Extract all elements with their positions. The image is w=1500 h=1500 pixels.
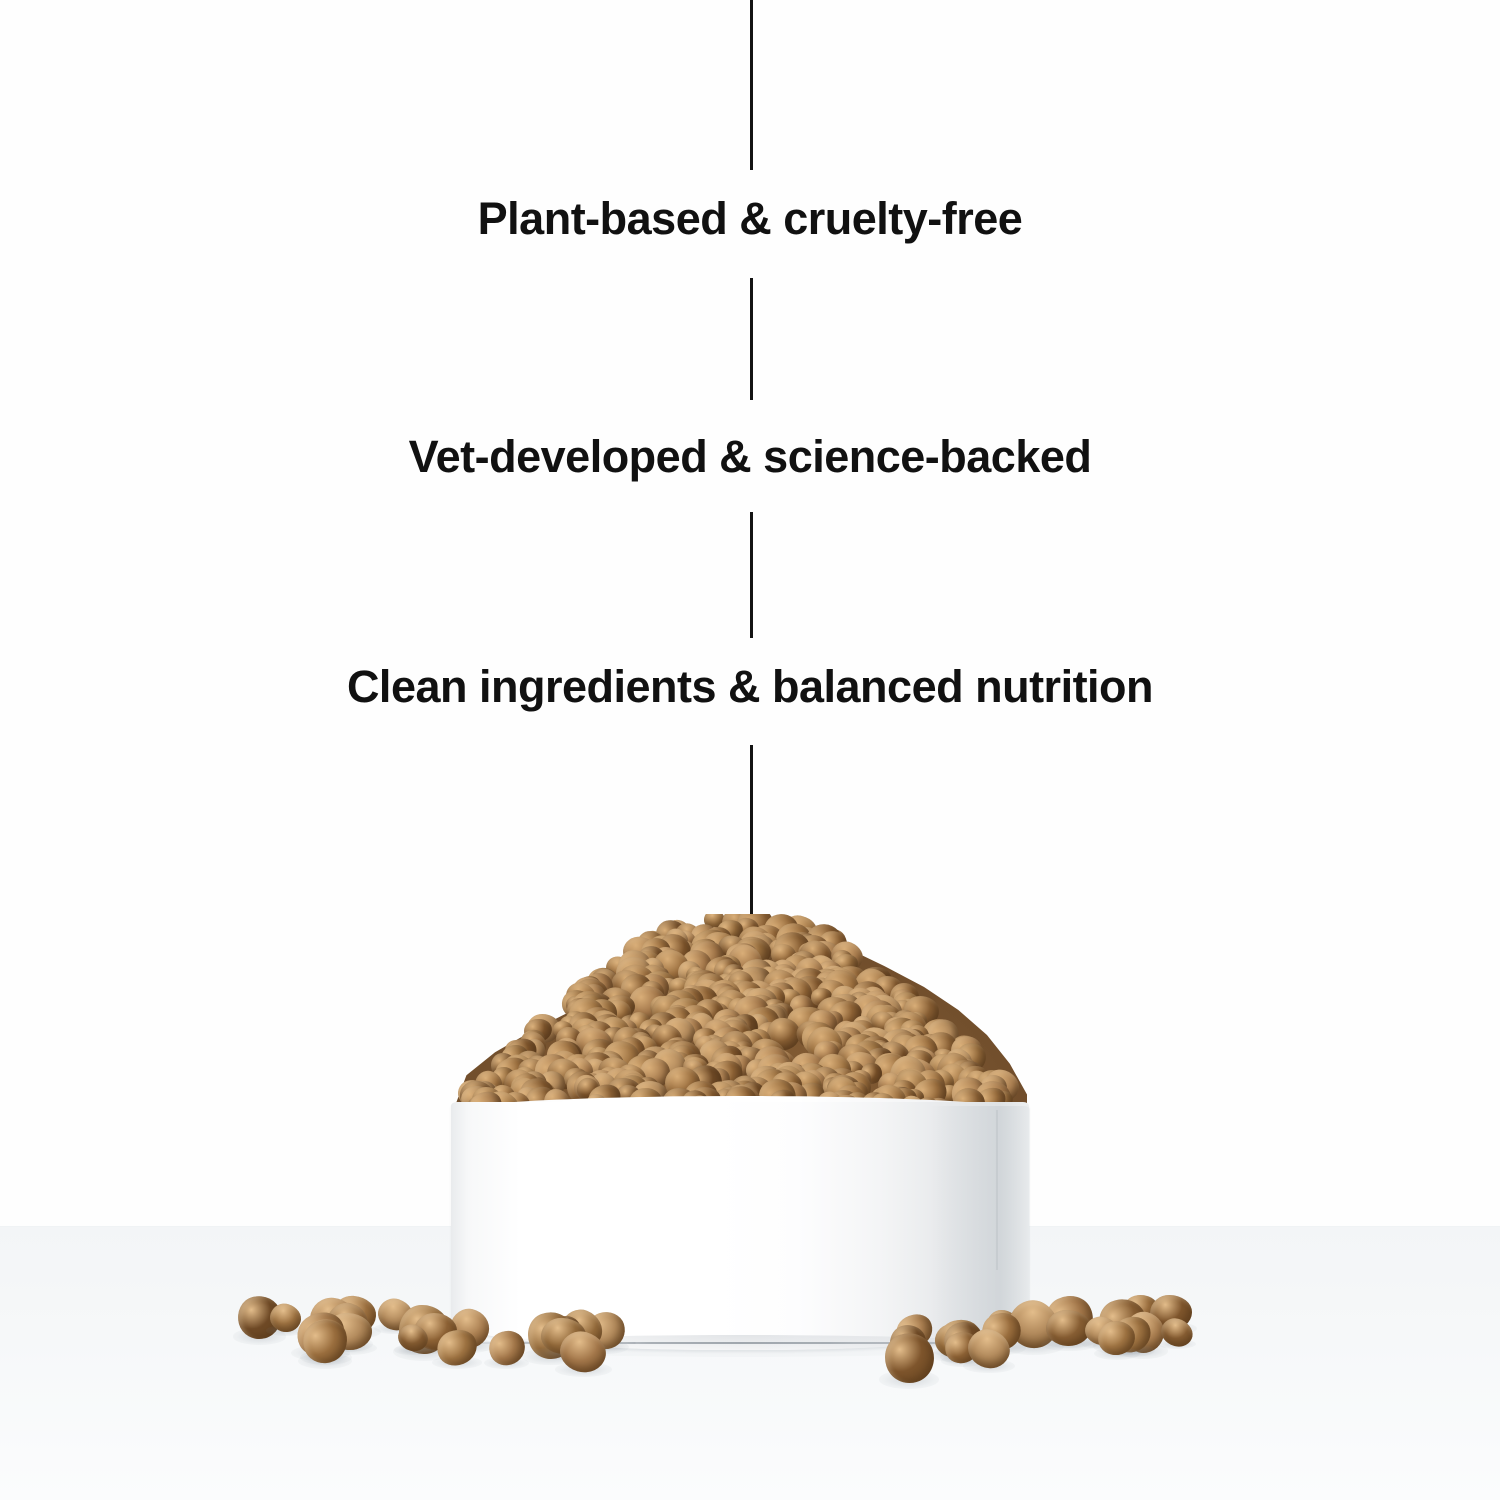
product-photo xyxy=(0,880,1500,1500)
benefit-headline-vet-developed: Vet-developed & science-backed xyxy=(0,434,1500,479)
connector-line-2 xyxy=(750,512,753,638)
kibble-pile xyxy=(455,914,1027,1106)
connector-line-1 xyxy=(750,278,753,400)
benefit-headline-plant-based: Plant-based & cruelty-free xyxy=(0,196,1500,241)
product-benefits-graphic: Plant-based & cruelty-free Vet-developed… xyxy=(0,0,1500,1500)
connector-line-top xyxy=(750,0,753,170)
bowl xyxy=(451,1102,1029,1350)
benefit-headline-clean-ingredients: Clean ingredients & balanced nutrition xyxy=(0,664,1500,709)
